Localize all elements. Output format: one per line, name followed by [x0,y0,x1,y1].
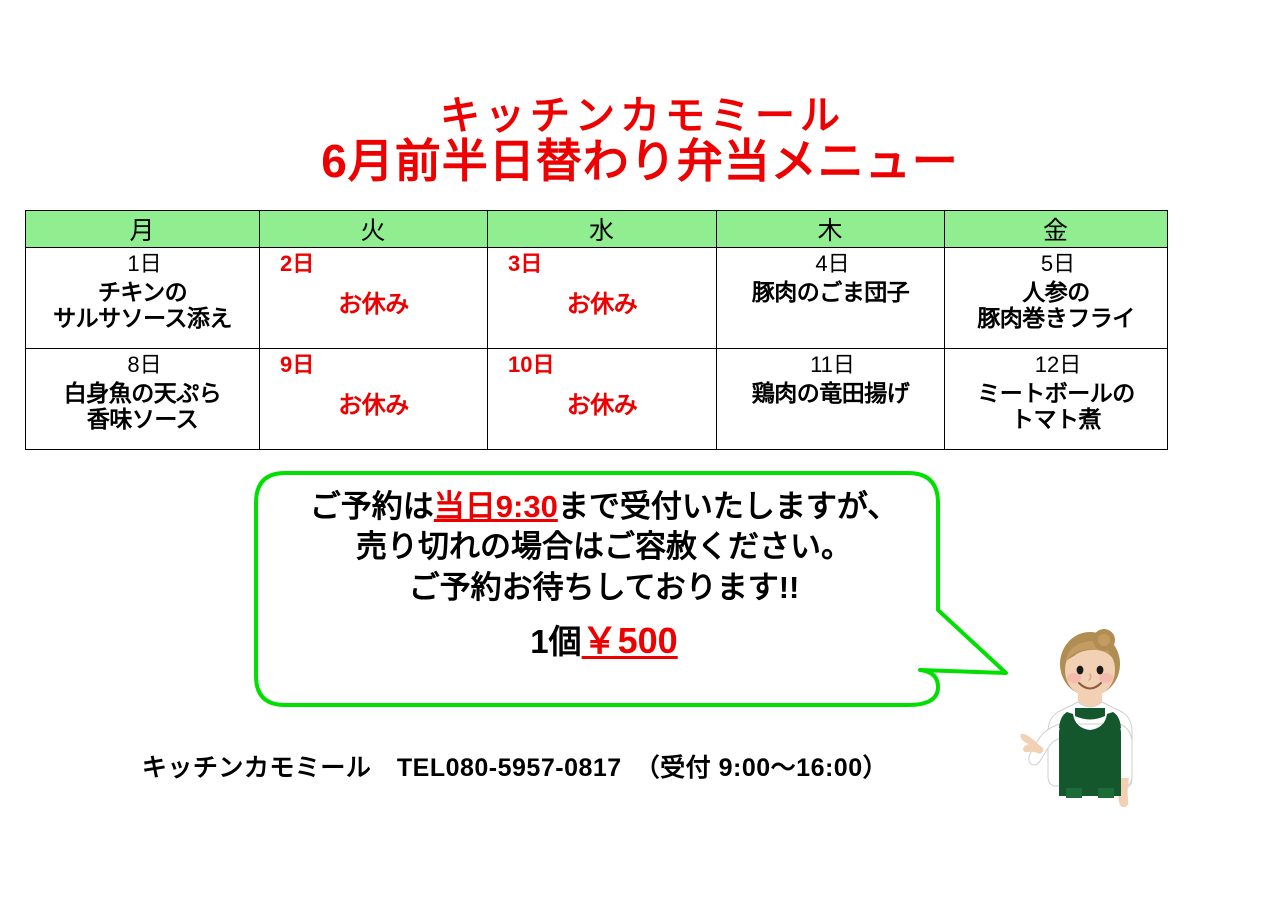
column-header-friday: 金 [945,211,1168,248]
cell-day-label: 4日 [723,252,938,277]
menu-cell: 4日 豚肉のごま団子 [717,248,944,348]
cell-dish-name: お休み [494,291,710,318]
menu-cell: 12日 ミートボールのトマト煮 [945,349,1167,449]
bubble-line-1-prefix: ご予約は [310,489,434,524]
column-header-thursday: 木 [717,211,945,248]
table-header-row: 月 火 水 木 金 [26,211,1168,248]
title-line-shop-name: キッチンカモミール [0,96,1280,138]
bubble-line-2: 売り切れの場合はご容赦ください。 [264,527,944,567]
bubble-line-1-suffix: まで受付いたしますが、 [558,489,898,524]
bubble-text-block: ご予約は当日9:30まで受付いたしますが、 売り切れの場合はご容赦ください。 ご… [264,487,944,665]
menu-cell: 1日 チキンのサルサソース添え [26,248,259,348]
menu-cell: 5日 人参の豚肉巻きフライ [945,248,1167,348]
menu-cell: 11日 鶏肉の竜田揚げ [717,349,944,449]
cell-day-label: 8日 [32,353,253,378]
table-row: 8日 白身魚の天ぷら香味ソース 9日 お休み 10日 お休み 11日 鶏肉の竜田… [26,349,1168,450]
table-row: 1日 チキンのサルサソース添え 2日 お休み 3日 お休み 4日 豚肉のごま団子… [26,248,1168,349]
cell-day-label: 2日 [266,252,481,277]
cell-dish-name: 鶏肉の竜田揚げ [723,380,938,406]
cell-day-label: 10日 [494,353,710,378]
menu-cell: 9日 お休み [260,349,487,449]
cell-day-label: 5日 [951,252,1161,277]
staff-woman-illustration [1020,628,1160,833]
cell-dish-name: お休み [266,291,481,318]
cell-day-label: 12日 [951,353,1161,378]
cell-dish-name: ミートボールのトマト煮 [951,380,1161,432]
footer-contact-line: キッチンカモミール TEL080-5957-0817 （受付 9:00～16:0… [0,748,1030,784]
menu-cell: 3日 お休み [488,248,716,348]
bubble-price-line: 1個￥500 [264,618,944,665]
bubble-line-3: ご予約お待ちしております!! [264,568,944,608]
cell-day-label: 9日 [266,353,481,378]
bubble-price-label: 1個 [530,623,581,660]
cell-dish-name: 人参の豚肉巻きフライ [951,279,1161,331]
bubble-price-amount: ￥500 [582,620,678,661]
reservation-notice-bubble: ご予約は当日9:30まで受付いたしますが、 売り切れの場合はご容赦ください。 ご… [248,465,1018,713]
cell-day-label: 3日 [494,252,710,277]
cell-day-label: 11日 [723,353,938,378]
bubble-line-1: ご予約は当日9:30まで受付いたしますが、 [264,487,944,527]
column-header-monday: 月 [26,211,260,248]
menu-cell: 10日 お休み [488,349,716,449]
column-header-tuesday: 火 [260,211,488,248]
menu-cell: 8日 白身魚の天ぷら香味ソース [26,349,259,449]
cell-dish-name: 白身魚の天ぷら香味ソース [32,380,253,432]
bubble-deadline-highlight: 当日9:30 [434,489,558,524]
menu-table: 月 火 水 木 金 1日 チキンのサルサソース添え 2日 お休み 3日 お休み … [25,210,1168,450]
column-header-wednesday: 水 [488,211,717,248]
cell-day-label: 1日 [32,252,253,277]
title-line-menu-period: 6月前半日替わり弁当メニュー [0,138,1280,186]
cell-dish-name: お休み [266,392,481,419]
cell-dish-name: チキンのサルサソース添え [32,279,253,331]
menu-cell: 2日 お休み [260,248,487,348]
cell-dish-name: 豚肉のごま団子 [723,279,938,305]
cell-dish-name: お休み [494,392,710,419]
page-title: キッチンカモミール 6月前半日替わり弁当メニュー [0,96,1280,185]
